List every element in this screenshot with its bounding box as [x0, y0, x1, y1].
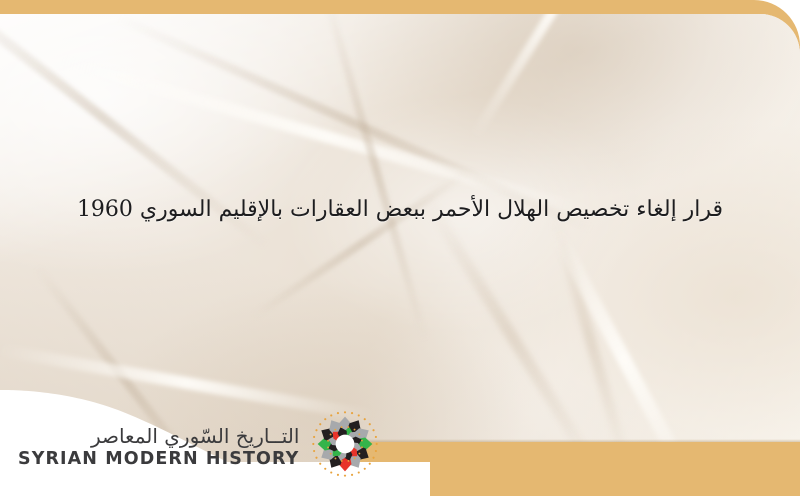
rosette-dot [361, 446, 363, 448]
rosette-dot [373, 457, 375, 459]
rosette-dot [341, 426, 343, 428]
rosette-dot [359, 453, 361, 455]
rosette-dot [361, 440, 363, 442]
rosette-dot [364, 468, 366, 470]
rosette-dot [313, 443, 315, 445]
rosette-center [336, 435, 355, 454]
rosette-dot [359, 433, 361, 435]
rosette-dot [358, 414, 360, 416]
rosette-dot [331, 414, 333, 416]
brand-text-group: التــاريخ السّوري المعاصر SYRIAN MODERN … [18, 419, 299, 470]
archive-document-card: قرار إلغاء تخصيص الهلال الأحمر ببعض العق… [0, 0, 800, 496]
rosette-dot [331, 471, 333, 473]
rosette-dot [354, 429, 356, 431]
rosette-dot [351, 412, 353, 414]
document-title: قرار إلغاء تخصيص الهلال الأحمر ببعض العق… [0, 192, 800, 228]
rosette-dot [337, 474, 339, 476]
rosette-dot [354, 457, 356, 459]
rosette-dot [325, 418, 327, 420]
rosette-dot [375, 436, 377, 438]
rosette-dot [316, 457, 318, 459]
rosette-dot [341, 460, 343, 462]
rosette-dot [313, 436, 315, 438]
rosette-dot [328, 447, 330, 449]
rosette-dot [328, 440, 330, 442]
rosette-dot [369, 463, 371, 465]
rosette-dot [376, 443, 378, 445]
rosette-dot [320, 463, 322, 465]
rosette-dot [330, 434, 332, 436]
rosette-dot [364, 418, 366, 420]
brand-name-english: SYRIAN MODERN HISTORY [18, 449, 299, 470]
rosette-dot [325, 468, 327, 470]
rosette-dot [369, 423, 371, 425]
rosette-dot [316, 429, 318, 431]
rosette-dot [330, 453, 332, 455]
rosette-dot [344, 475, 346, 477]
brand-lockup[interactable]: التــاريخ السّوري المعاصر SYRIAN MODERN … [18, 404, 348, 484]
rosette-dot [348, 426, 350, 428]
rosette-dot [348, 460, 350, 462]
rosette-dot [335, 457, 337, 459]
rosette-dot [351, 474, 353, 476]
rosette-dot [358, 471, 360, 473]
rosette-dot [373, 429, 375, 431]
brand-name-arabic: التــاريخ السّوري المعاصر [91, 423, 299, 449]
rosette-dot [335, 429, 337, 431]
rosette-dot [375, 450, 377, 452]
rosette-dot [344, 411, 346, 413]
rosette-dot [337, 412, 339, 414]
rosette-emblem-icon [309, 408, 381, 480]
rosette-dot [320, 423, 322, 425]
rosette-dot [313, 450, 315, 452]
